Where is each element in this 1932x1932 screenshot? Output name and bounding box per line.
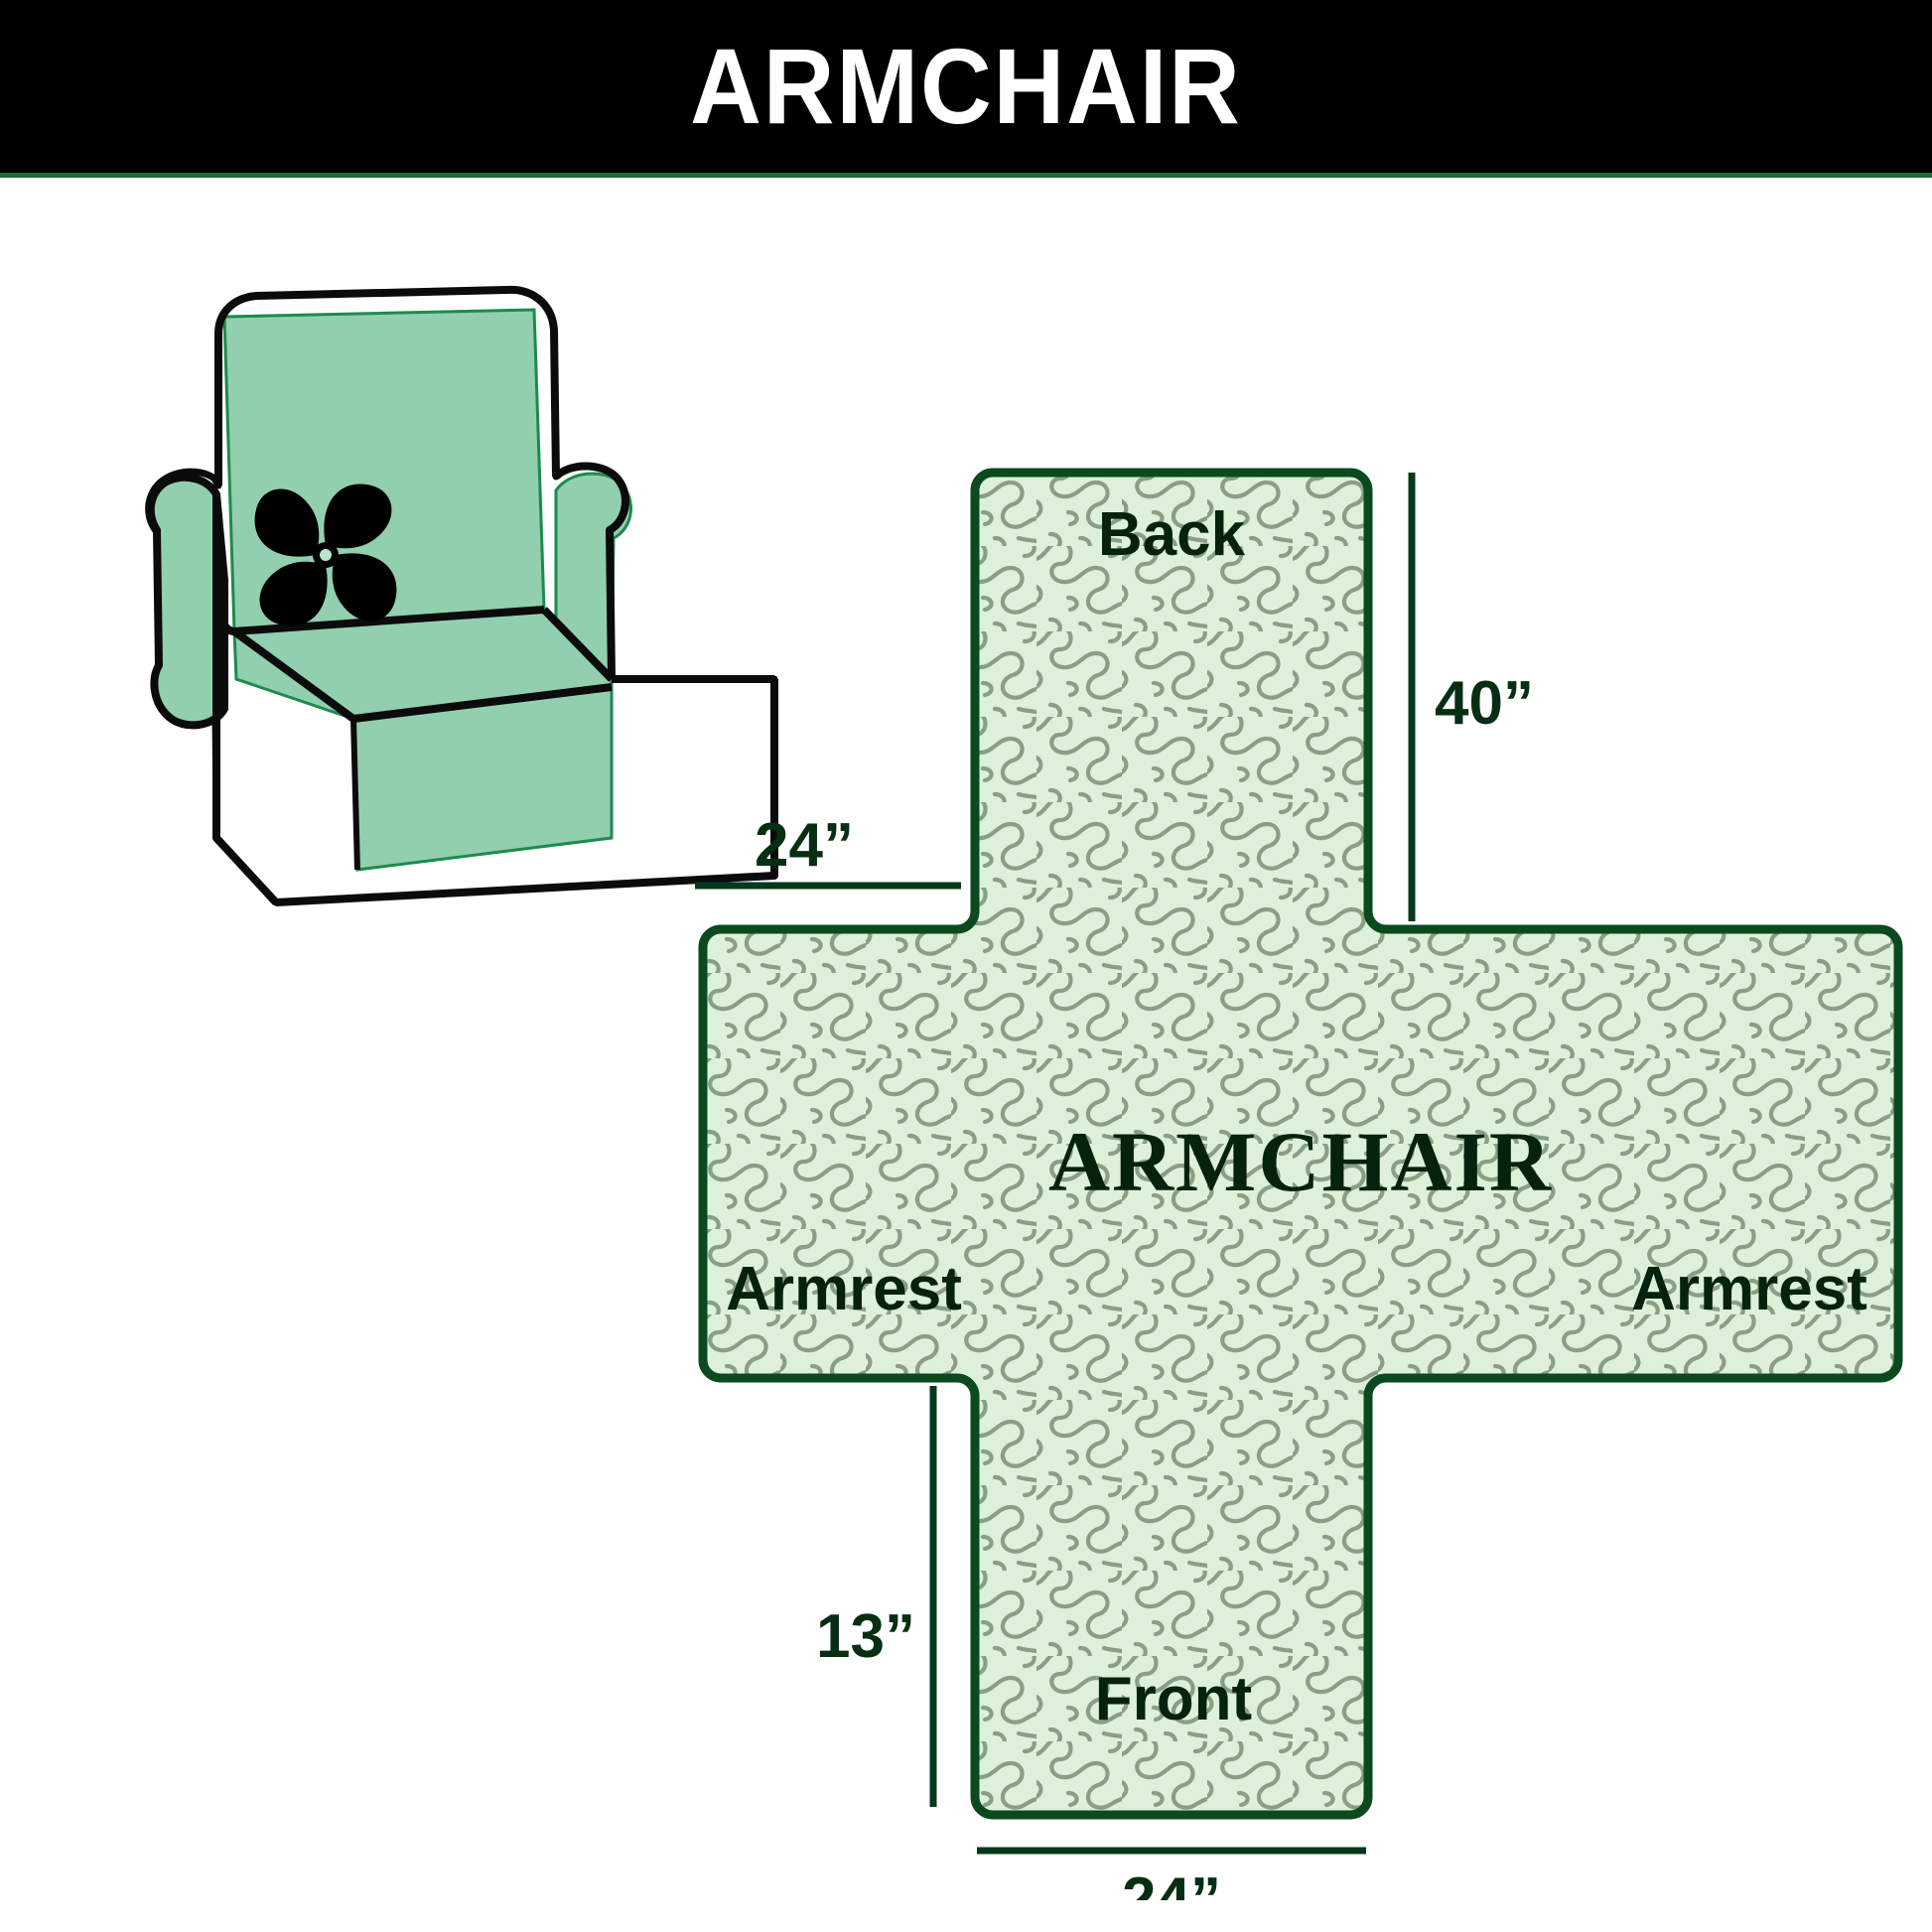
panel-label-armrest-right: Armrest [1631,1255,1867,1323]
panel-label-front: Front [1095,1665,1252,1733]
dimension-back-height: 40” [1412,473,1534,921]
panel-label-back: Back [1098,500,1246,569]
svg-text:40”: 40” [1435,669,1534,738]
svg-text:24”: 24” [755,811,854,880]
page-title: ARMCHAIR [690,33,1242,140]
diagram-canvas: Back ARMCHAIR Armrest Armrest Front 40” … [0,178,1932,1932]
dimension-front-width: 24” [977,1851,1366,1900]
header-banner: ARMCHAIR [0,0,1932,173]
dimension-back-width: 24” [695,811,961,886]
slipcover-pattern-diagram: Back ARMCHAIR Armrest Armrest Front 40” … [695,461,1916,1900]
panel-label-center: ARMCHAIR [1048,1114,1553,1209]
panel-label-armrest-left: Armrest [726,1255,962,1323]
dimension-front-height: 13” [816,1386,933,1807]
svg-text:13”: 13” [816,1602,915,1671]
svg-text:24”: 24” [1122,1865,1221,1900]
